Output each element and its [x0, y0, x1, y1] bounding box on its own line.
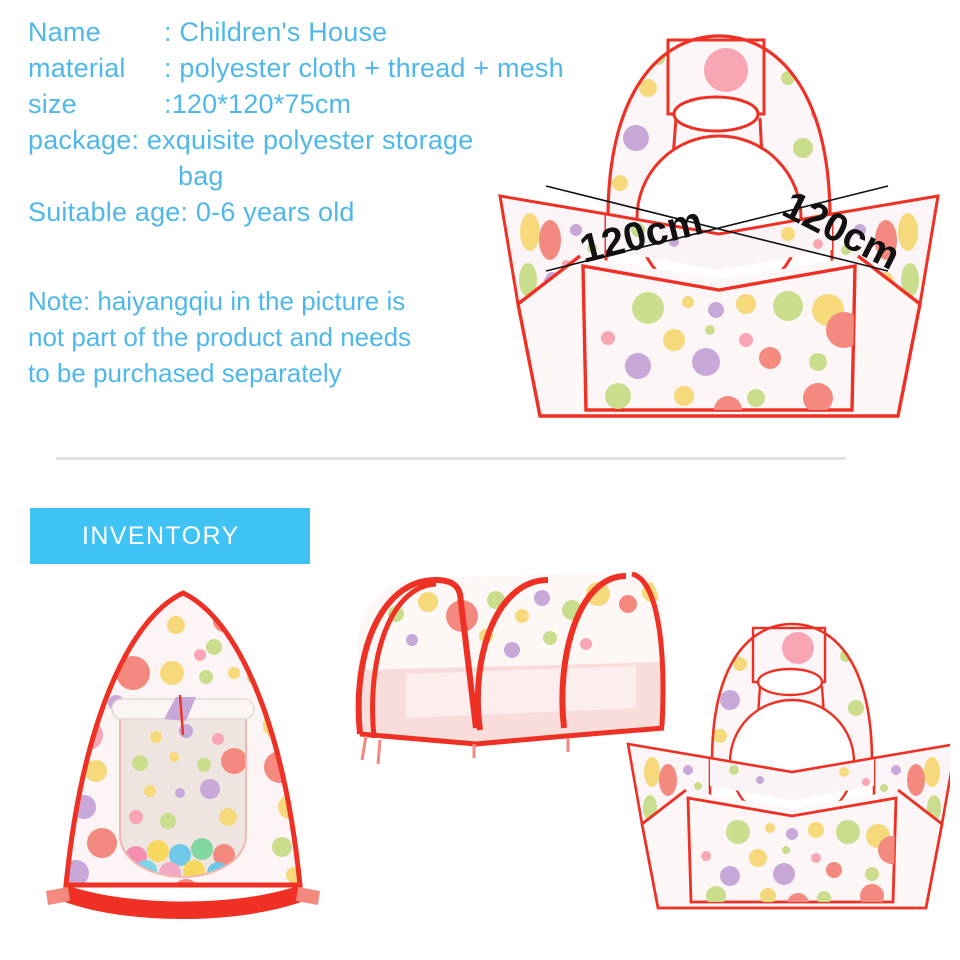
section-divider: [56, 457, 846, 460]
spec-label-size: size: [28, 86, 164, 122]
tent-base: [46, 885, 320, 919]
spec-label-material: material: [28, 50, 164, 86]
product-photo-tent: [28, 585, 338, 925]
playpen-front-panel: [518, 256, 920, 424]
hero-product-image: 120cm 120cm: [488, 18, 950, 430]
product-photo-ballpit: [620, 612, 950, 912]
spec-label-package: package:: [28, 125, 139, 155]
spec-value-package-cont: bag: [178, 161, 224, 191]
product-detail-page: Name: Children's House material: polyest…: [0, 0, 960, 960]
spec-value-name: : Children's House: [164, 17, 387, 47]
spec-value-age: Suitable age: 0-6 years old: [28, 197, 355, 227]
spec-value-size: :120*120*75cm: [164, 89, 351, 119]
spec-label-name: Name: [28, 14, 164, 50]
product-photo-tunnel: [336, 558, 666, 778]
inventory-banner: INVENTORY: [30, 508, 310, 564]
inventory-label: INVENTORY: [82, 522, 240, 551]
tent-doorway: [120, 715, 247, 884]
spec-value-package: exquisite polyester storage: [139, 125, 473, 155]
